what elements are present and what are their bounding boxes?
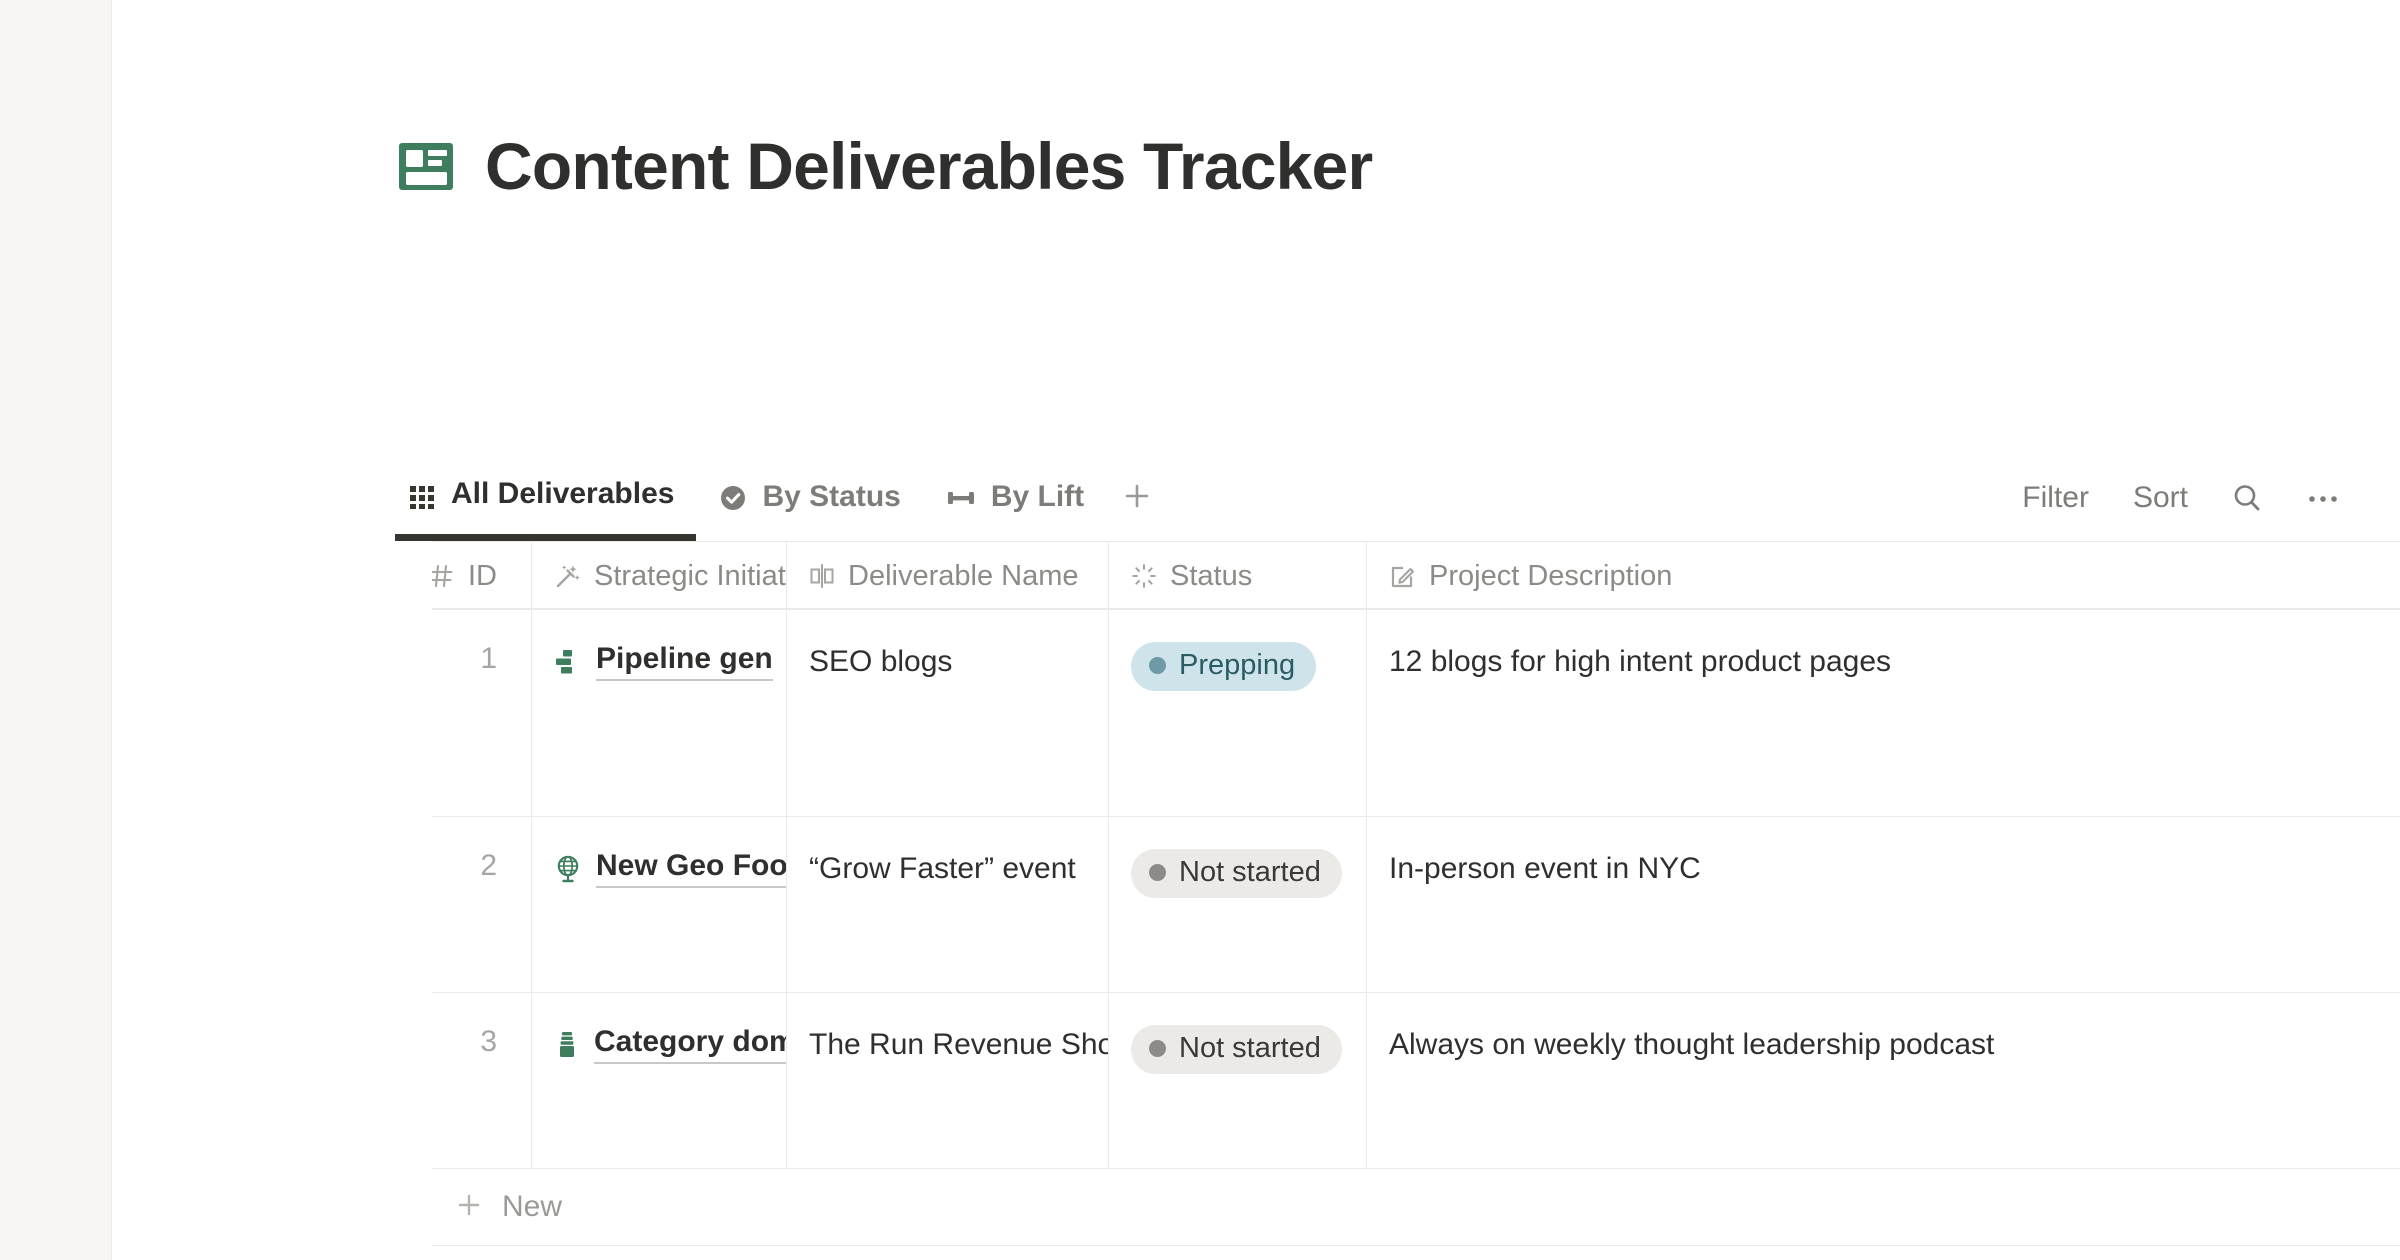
deliverables-table: ID Str <box>432 541 2400 1246</box>
deliverable-name: SEO blogs <box>809 642 952 682</box>
check-circle-icon <box>718 483 748 513</box>
tab-label: By Lift <box>991 482 1084 514</box>
status-badge[interactable]: Not started <box>1131 1025 1342 1074</box>
relation-icon <box>809 563 835 589</box>
column-header-label: Status <box>1170 560 1252 593</box>
page-header: Content Deliverables Tracker <box>395 133 1372 199</box>
deliverable-name: “Grow Faster” event <box>809 849 1076 889</box>
globe-icon <box>554 854 582 884</box>
status-badge[interactable]: Not started <box>1131 849 1342 898</box>
column-header-label: Project Description <box>1429 560 1672 593</box>
cell-status: Prepping <box>1109 610 1367 816</box>
column-header-project-description[interactable]: Project Description <box>1367 542 2267 610</box>
table-row[interactable]: 2 New Geo Footprin <box>432 816 2400 992</box>
column-header-label: Strategic Initiative <box>594 560 787 593</box>
status-label: Not started <box>1179 856 1321 889</box>
cell-project-description: 12 blogs for high intent product pages <box>1367 610 2267 816</box>
table-header-row: ID Str <box>432 541 2400 609</box>
page-title: Content Deliverables Tracker <box>485 133 1372 199</box>
deliverable-name: The Run Revenue Show <box>809 1025 1109 1065</box>
tab-by-status[interactable]: By Status <box>696 455 922 541</box>
table-toolbar: Filter Sort <box>2000 455 2400 541</box>
bar-chart-icon <box>554 647 582 677</box>
table-row[interactable]: 3 <box>432 992 2400 1168</box>
status-dot-icon <box>1149 864 1166 881</box>
status-label: Prepping <box>1179 649 1295 682</box>
grid-icon <box>407 480 437 510</box>
cell-project-description: In-person event in NYC <box>1367 817 2267 992</box>
cell-strategic-initiative: Pipeline gen <box>532 610 787 816</box>
search-icon[interactable] <box>2210 481 2284 515</box>
filter-button[interactable]: Filter <box>2000 481 2111 515</box>
cell-id: 1 <box>432 610 532 816</box>
column-header-id[interactable]: ID <box>432 542 532 610</box>
status-dot-icon <box>1149 1040 1166 1057</box>
view-toolbar: All Deliverables By Status <box>395 455 2400 541</box>
cell-deliverable-name: “Grow Faster” event <box>787 817 1109 992</box>
table-row[interactable]: 1 Pipeline g <box>432 609 2400 816</box>
app-window: Content Deliverables Tracker <box>0 0 2400 1260</box>
status-badge[interactable]: Prepping <box>1131 642 1316 691</box>
column-header-strategic-initiative[interactable]: Strategic Initiative <box>532 542 787 610</box>
initiative-link[interactable]: New Geo Footprint <box>596 849 787 888</box>
initiative-link[interactable]: Category domination <box>594 1025 787 1064</box>
books-icon <box>554 1030 580 1060</box>
new-row-label: New <box>502 1190 562 1224</box>
plus-icon <box>1121 480 1153 517</box>
sidebar-rail <box>0 0 112 1260</box>
cell-id: 2 <box>432 817 532 992</box>
cell-strategic-initiative: Category domination <box>532 993 787 1168</box>
row-id: 3 <box>480 1025 497 1057</box>
status-label: Not started <box>1179 1032 1321 1065</box>
magic-wand-icon <box>554 563 581 590</box>
column-header-deliverable-name[interactable]: Deliverable Name <box>787 542 1109 610</box>
column-header-label: Deliverable Name <box>848 560 1079 593</box>
column-header-status[interactable]: Status <box>1109 542 1367 610</box>
cell-deliverable-name: The Run Revenue Show <box>787 993 1109 1168</box>
tab-by-lift[interactable]: By Lift <box>923 455 1106 541</box>
view-tabs: All Deliverables By Status <box>395 455 1168 541</box>
article-layout-icon <box>395 135 457 197</box>
sort-button[interactable]: Sort <box>2111 481 2210 515</box>
row-id: 2 <box>480 849 497 881</box>
initiative-link[interactable]: Pipeline gen <box>596 642 773 681</box>
tab-label: By Status <box>762 482 900 514</box>
hash-icon <box>432 563 455 589</box>
edit-note-icon <box>1389 563 1416 590</box>
cell-status: Not started <box>1109 993 1367 1168</box>
cell-id: 3 <box>432 993 532 1168</box>
spinner-icon <box>1131 563 1157 589</box>
tab-label: All Deliverables <box>451 479 674 511</box>
project-description: 12 blogs for high intent product pages <box>1389 642 2245 682</box>
plus-icon <box>454 1190 484 1225</box>
tab-all-deliverables[interactable]: All Deliverables <box>395 455 696 541</box>
cell-status: Not started <box>1109 817 1367 992</box>
new-row-button[interactable]: New <box>432 1168 2400 1246</box>
row-id: 1 <box>480 642 497 674</box>
h-bar-icon <box>945 483 977 513</box>
add-view-button[interactable] <box>1106 455 1168 541</box>
project-description: In-person event in NYC <box>1389 849 2245 889</box>
cell-project-description: Always on weekly thought leadership podc… <box>1367 993 2267 1168</box>
status-dot-icon <box>1149 657 1166 674</box>
ellipsis-icon[interactable] <box>2284 481 2362 515</box>
cell-strategic-initiative: New Geo Footprint <box>532 817 787 992</box>
cell-deliverable-name: SEO blogs <box>787 610 1109 816</box>
column-header-label: ID <box>468 560 497 593</box>
project-description: Always on weekly thought leadership podc… <box>1389 1025 2245 1065</box>
main-content: Content Deliverables Tracker <box>112 0 2400 1260</box>
